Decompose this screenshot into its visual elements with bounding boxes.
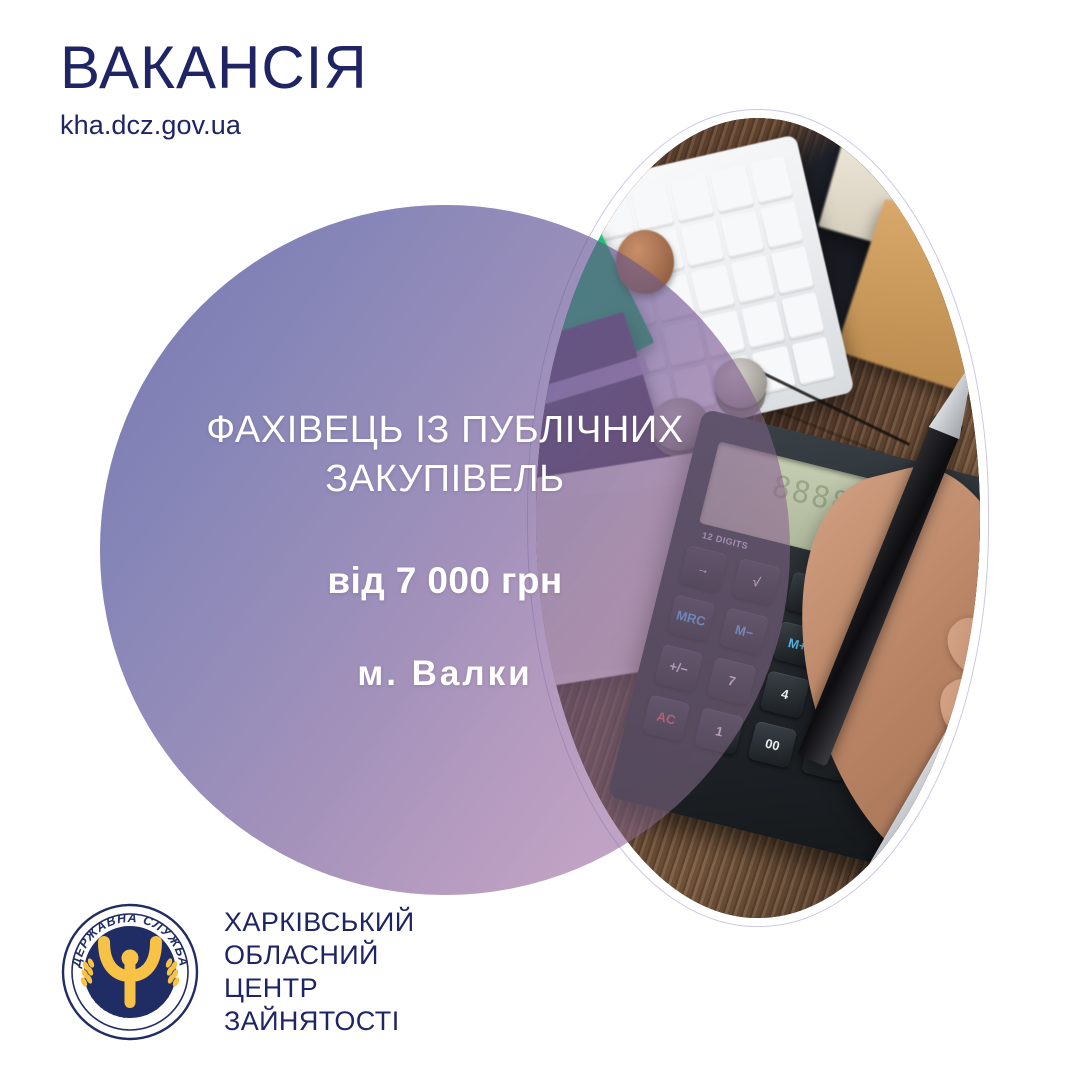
city-name: м. Валки [357, 654, 532, 694]
header: ВАКАНСІЯ kha.dcz.gov.ua [60, 38, 368, 141]
page-title: ВАКАНСІЯ [60, 38, 368, 98]
job-title: ФАХІВЕЦЬ ІЗ ПУБЛІЧНИХ ЗАКУПІВЕЛЬ [165, 406, 725, 503]
organization-name: ХАРКІВСЬКИЙ ОБЛАСНИЙ ЦЕНТР ЗАЙНЯТОСТІ [224, 906, 415, 1038]
site-url: kha.dcz.gov.ua [60, 110, 368, 141]
vacancy-info-block: ФАХІВЕЦЬ ІЗ ПУБЛІЧНИХ ЗАКУПІВЕЛЬ від 7 0… [100, 205, 790, 895]
employment-service-logo: ДЕРЖАВНА СЛУЖБА ЗАЙНЯТОСТІ [60, 902, 200, 1042]
salary-amount: від 7 000 грн [327, 560, 562, 602]
poster-canvas: ВАКАНСІЯ kha.dcz.gov.ua [0, 0, 1080, 1080]
footer: ДЕРЖАВНА СЛУЖБА ЗАЙНЯТОСТІ ХАРКІВСЬКИЙ О… [60, 902, 415, 1042]
